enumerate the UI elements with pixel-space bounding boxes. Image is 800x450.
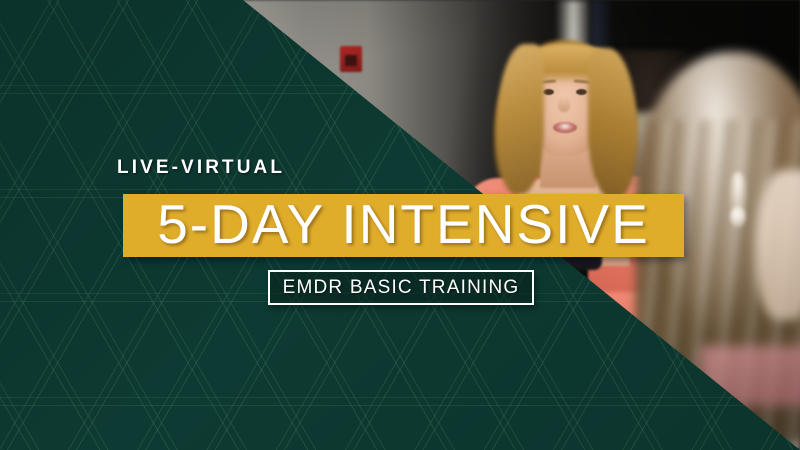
promo-banner-image: LIVE-VIRTUAL 5-DAY INTENSIVE EMDR BASIC … [0,0,800,450]
gold-headline-banner: 5-DAY INTENSIVE [123,194,684,257]
kicker-label: LIVE-VIRTUAL [117,157,285,179]
headline-text: 5-DAY INTENSIVE [157,197,650,252]
subtitle-text: EMDR BASIC TRAINING [283,277,520,299]
subtitle-outline-box: EMDR BASIC TRAINING [268,270,534,305]
gold-banner-inner: 5-DAY INTENSIVE [123,194,684,257]
